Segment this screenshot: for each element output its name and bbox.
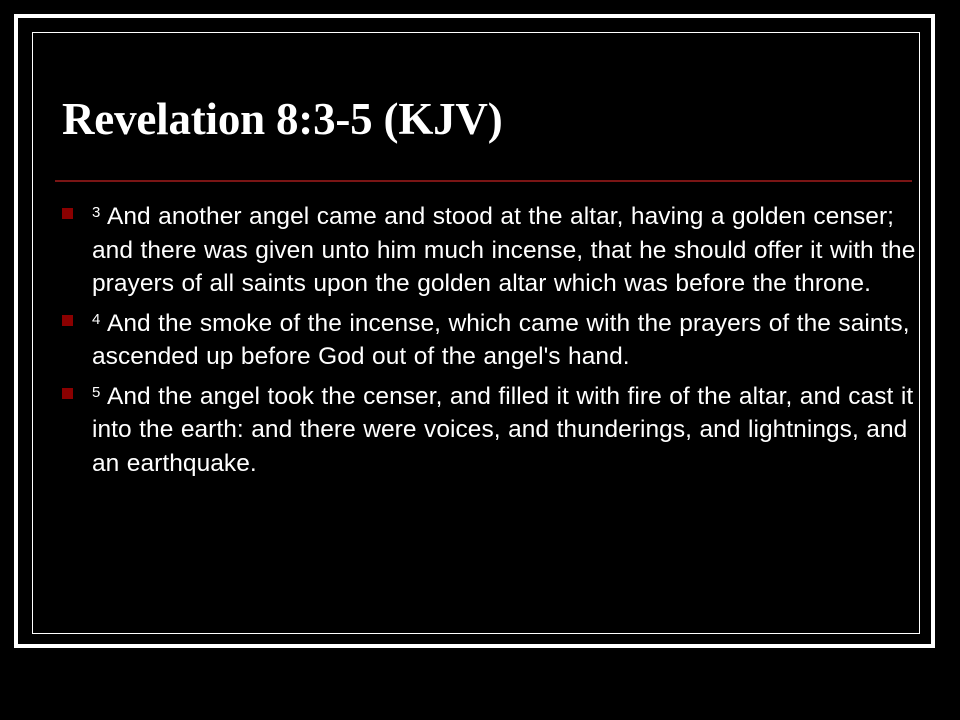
- verse-text: And the angel took the censer, and fille…: [92, 383, 913, 477]
- verse-number: 3: [92, 204, 101, 221]
- verse-text: And another angel came and stood at the …: [92, 203, 915, 297]
- verse-text: And the smoke of the incense, which came…: [92, 310, 910, 371]
- verse-number: 4: [92, 311, 101, 328]
- title-divider-rule: [55, 180, 912, 182]
- slide-body: 3 And another angel came and stood at th…: [55, 196, 930, 482]
- square-bullet-icon: [62, 315, 73, 326]
- list-item: 3 And another angel came and stood at th…: [55, 196, 930, 301]
- square-bullet-icon: [62, 388, 73, 399]
- list-item: 4 And the smoke of the incense, which ca…: [55, 303, 930, 374]
- presentation-slide: Revelation 8:3-5 (KJV) 3 And another ang…: [0, 0, 960, 720]
- slide-title: Revelation 8:3-5 (KJV): [62, 96, 892, 143]
- square-bullet-icon: [62, 208, 73, 219]
- verse-number: 5: [92, 384, 101, 401]
- list-item: 5 And the angel took the censer, and fil…: [55, 376, 930, 481]
